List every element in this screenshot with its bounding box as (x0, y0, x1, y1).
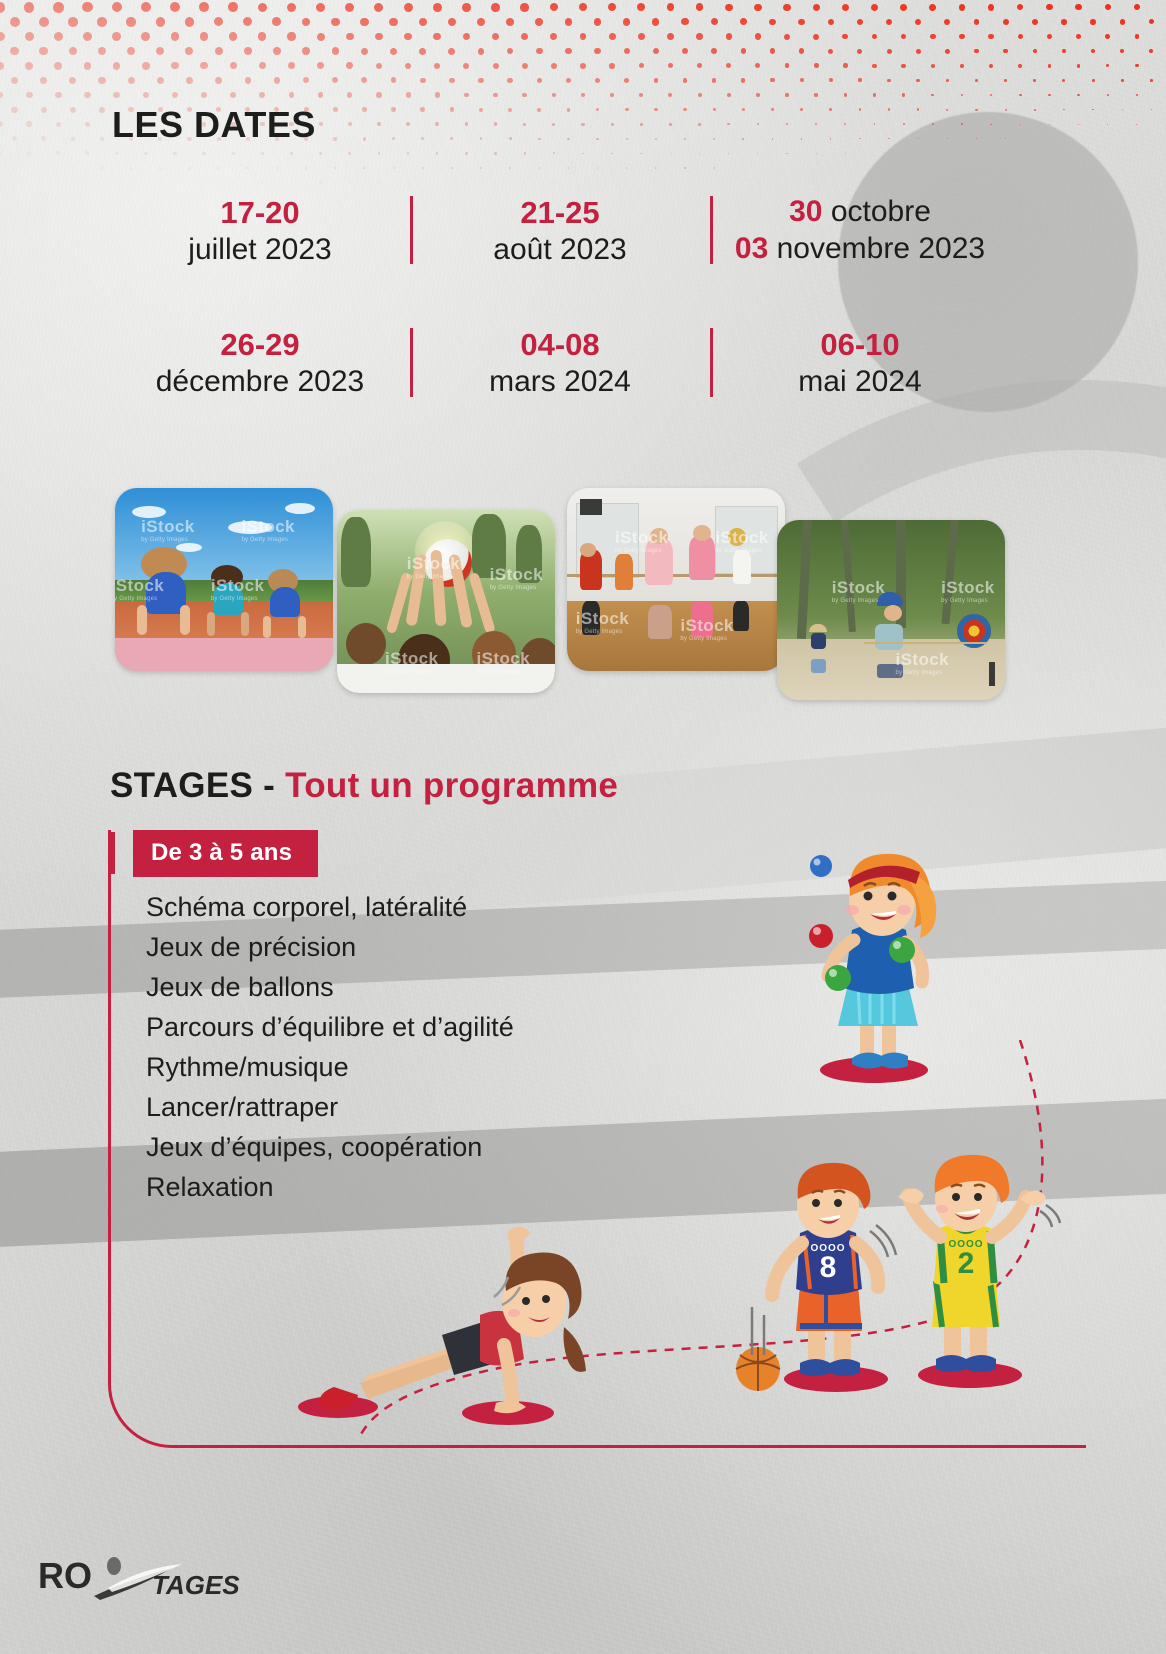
photo-kids-dance-studio: iStockby Getty Images iStockby Getty Ima… (567, 488, 785, 671)
date-cell: 30 octobre 03 novembre 2023 (710, 190, 1010, 270)
date-range-value: 26-29 (220, 327, 299, 362)
girl-juggling-balls (778, 838, 978, 1088)
dates-grid: 17-20 juillet 2023 21-25 août 2023 30 oc… (110, 190, 1010, 403)
svg-text:OOOO: OOOO (810, 1243, 845, 1254)
date-period: août 2023 (420, 232, 700, 269)
date-period: juillet 2023 (120, 232, 400, 269)
activity-item: Jeux de ballons (146, 968, 766, 1008)
date-start: 30 octobre (720, 194, 1000, 231)
date-cell: 04-08 mars 2024 (410, 322, 710, 402)
svg-text:OOOO: OOOO (948, 1239, 983, 1250)
date-range: 26-29 (120, 326, 400, 364)
date-period: décembre 2023 (120, 364, 400, 401)
date-end-month: novembre 2023 (777, 232, 985, 265)
date-range: 04-08 (420, 326, 700, 364)
poster-canvas: LES DATES 17-20 juillet 2023 21-25 août … (0, 0, 1166, 1654)
logo-part-one: RO (38, 1555, 92, 1596)
jersey-number-blue: 8 (820, 1251, 837, 1284)
photo-kids-archery: iStockby Getty Images iStockby Getty Ima… (777, 520, 1005, 700)
girl-side-plank (290, 1185, 600, 1435)
date-period: mai 2024 (720, 364, 1000, 401)
boy-cheering: 2 OOOO (880, 1145, 1070, 1400)
jersey-number-yellow: 2 (958, 1247, 975, 1280)
date-range: 06-10 (720, 326, 1000, 364)
date-start-day: 30 (789, 195, 822, 228)
date-range: 21-25 (420, 194, 700, 232)
badge-tick-mark (110, 832, 115, 874)
date-cell: 06-10 mai 2024 (710, 322, 1010, 402)
stages-heading: STAGES - Tout un programme (110, 766, 618, 806)
photo-kids-pushups-track: iStockby Getty Images iStockby Getty Ima… (115, 488, 333, 671)
date-end: 03 novembre 2023 (720, 231, 1000, 268)
stages-heading-main: STAGES - (110, 766, 285, 805)
stages-heading-accent: Tout un programme (285, 766, 618, 805)
date-cell: 21-25 août 2023 (410, 190, 710, 270)
activity-item: Jeux de précision (146, 928, 766, 968)
date-range: 17-20 (120, 194, 400, 232)
date-cell: 26-29 décembre 2023 (110, 322, 410, 402)
date-period: mars 2024 (420, 364, 700, 401)
date-range-value: 06-10 (820, 327, 899, 362)
brand-logo: RO TAGES (36, 1548, 256, 1604)
page-title: LES DATES (112, 104, 316, 146)
date-end-day: 03 (735, 232, 768, 265)
date-cell: 17-20 juillet 2023 (110, 190, 410, 270)
age-range-badge: De 3 à 5 ans (133, 830, 318, 877)
photo-strip: iStockby Getty Images iStockby Getty Ima… (115, 488, 1005, 708)
photo-kids-hands-ball: iStockby Getty Images iStockby Getty Ima… (337, 510, 555, 693)
logo-part-two: TAGES (152, 1570, 240, 1600)
date-range-value: 21-25 (520, 195, 599, 230)
date-range-value: 04-08 (520, 327, 599, 362)
date-start-month: octobre (831, 195, 931, 228)
activity-item: Schéma corporel, latéralité (146, 888, 766, 928)
date-range-value: 17-20 (220, 195, 299, 230)
